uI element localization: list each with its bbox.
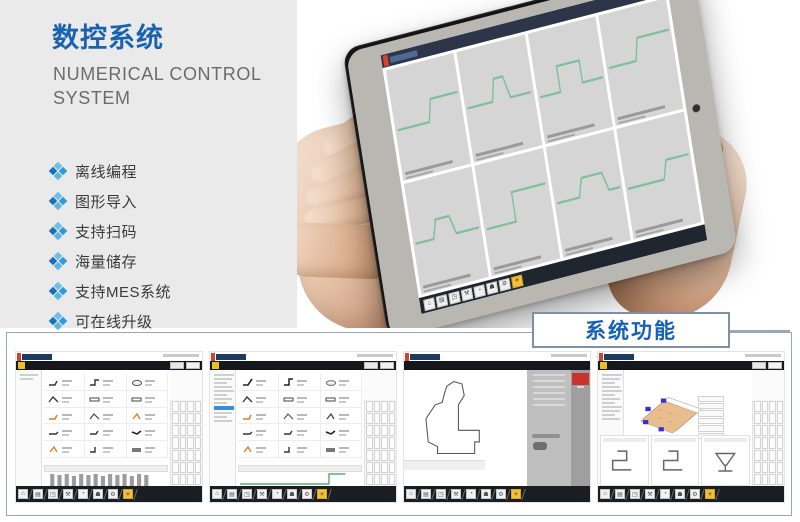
diamond-cluster-icon <box>50 253 66 269</box>
settings-icon[interactable]: ⚙ <box>496 489 506 499</box>
lamp-icon[interactable]: ☀ <box>511 274 523 288</box>
settings-icon[interactable]: ⚙ <box>498 277 510 291</box>
step-preview-row <box>600 435 750 486</box>
window-titlebar <box>598 352 784 361</box>
home-icon[interactable]: ⌂ <box>18 489 28 499</box>
tool-cell[interactable] <box>85 441 126 458</box>
user-icon[interactable]: ☗ <box>287 489 297 499</box>
tool-cell[interactable] <box>321 408 362 425</box>
page-root: 数控系统 NUMERICAL CONTROL SYSTEM 离线编程 图形导入 <box>0 0 800 522</box>
menubar <box>16 361 202 370</box>
tool-cell[interactable] <box>85 391 126 408</box>
tool-icon[interactable]: ⚒ <box>645 489 655 499</box>
bend-card[interactable] <box>386 53 471 181</box>
canvas-statusbar <box>404 460 485 470</box>
status-bar <box>44 465 168 472</box>
menubar <box>598 361 784 370</box>
bottom-toolbar: ⌂ ▤ ◳ ⚒ ◔ ☗ ⚙ ☀ <box>210 486 396 502</box>
tool-cell[interactable] <box>127 441 168 458</box>
tool-cell[interactable] <box>321 424 362 441</box>
tool-cell[interactable] <box>44 408 85 425</box>
tool-cell[interactable] <box>85 408 126 425</box>
bend-tool-grid <box>238 374 362 458</box>
tab-secondary[interactable] <box>170 362 184 369</box>
table-row[interactable] <box>698 418 724 424</box>
action-panel[interactable] <box>571 370 590 486</box>
tool-cell[interactable] <box>85 374 126 391</box>
diamond-cluster-icon <box>50 223 66 239</box>
gauge-icon[interactable]: ◔ <box>466 489 476 499</box>
feature-label: 离线编程 <box>75 161 137 182</box>
feature-list: 离线编程 图形导入 支持扫码 <box>50 158 290 338</box>
tool-cell[interactable] <box>279 391 320 408</box>
tool-cell[interactable] <box>127 391 168 408</box>
page-title-en: NUMERICAL CONTROL SYSTEM <box>53 62 285 111</box>
feature-label: 图形导入 <box>75 191 137 212</box>
tool-cell[interactable] <box>238 391 279 408</box>
window-controls <box>357 354 393 357</box>
tool-cell[interactable] <box>279 408 320 425</box>
screenshot-bend-sequence[interactable]: ⌂ ▤ ◳ ⚒ ◔ ☗ ⚙ ☀ <box>209 351 397 503</box>
tool-cell[interactable] <box>44 441 85 458</box>
tool-cell[interactable] <box>238 424 279 441</box>
feature-item-5: 可在线升级 <box>50 308 290 334</box>
product-photo: ⌂ ▤ ◳ ⚒ ◔ ☗ ⚙ ☀ <box>297 0 800 328</box>
brand-wordmark <box>604 354 634 360</box>
tool-icon[interactable]: ⚒ <box>63 489 73 499</box>
layers-icon[interactable]: ◳ <box>48 489 58 499</box>
tool-cell[interactable] <box>238 441 279 458</box>
tool-cell[interactable] <box>238 374 279 391</box>
feature-item-1: 图形导入 <box>50 188 290 214</box>
section-badge-label: 系统功能 <box>585 315 677 345</box>
settings-icon[interactable]: ⚙ <box>108 489 118 499</box>
tool-icon[interactable]: ⚒ <box>461 287 473 301</box>
table-row[interactable] <box>698 425 724 431</box>
brand-wordmark <box>216 354 246 360</box>
brand-mark-icon <box>383 55 390 67</box>
diamond-cluster-icon <box>50 283 66 299</box>
brand-wordmark <box>22 354 52 360</box>
layers-icon[interactable]: ◳ <box>448 290 460 304</box>
screenshot-3d-simulation[interactable]: ⌂ ▤ ◳ ⚒ ◔ ☗ ⚙ ☀ <box>597 351 785 503</box>
value-slider[interactable] <box>532 434 560 438</box>
numeric-keypad[interactable] <box>364 400 396 486</box>
bottom-toolbar: ⌂ ▤ ◳ ⚒ ◔ ☗ ⚙ ☀ <box>404 486 590 502</box>
bend-card[interactable] <box>545 130 630 258</box>
hero-text-panel: 数控系统 NUMERICAL CONTROL SYSTEM 离线编程 图形导入 <box>0 0 297 328</box>
feature-item-3: 海量储存 <box>50 248 290 274</box>
lamp-icon[interactable]: ☀ <box>705 489 715 499</box>
layers-icon[interactable]: ◳ <box>436 489 446 499</box>
diamond-cluster-icon <box>50 193 66 209</box>
feature-item-2: 支持扫码 <box>50 218 290 244</box>
step-line-chart <box>238 472 362 486</box>
settings-icon[interactable]: ⚙ <box>690 489 700 499</box>
step-preview-card[interactable] <box>600 435 649 486</box>
folder-icon[interactable]: ▤ <box>421 489 431 499</box>
bend-card[interactable] <box>457 35 542 163</box>
window-controls <box>551 354 587 357</box>
tab-primary[interactable] <box>186 362 200 369</box>
user-icon[interactable]: ☗ <box>675 489 685 499</box>
diamond-cluster-icon <box>50 163 66 179</box>
primary-action-button[interactable] <box>572 373 589 385</box>
tab-secondary[interactable] <box>364 362 378 369</box>
bend-card[interactable] <box>616 112 701 240</box>
numeric-keypad[interactable] <box>752 400 784 486</box>
tool-cell[interactable] <box>127 408 168 425</box>
bend-card[interactable] <box>475 148 560 276</box>
status-badge <box>600 362 607 369</box>
brand-mark-icon <box>599 353 603 361</box>
folder-icon[interactable]: ▤ <box>227 489 237 499</box>
user-icon[interactable]: ☗ <box>93 489 103 499</box>
feature-item-4: 支持MES系统 <box>50 278 290 304</box>
screenshot-bend-library[interactable]: ⌂ ▤ ◳ ⚒ ◔ ☗ ⚙ ☀ <box>15 351 203 503</box>
tool-cell[interactable] <box>44 391 85 408</box>
user-icon[interactable]: ☗ <box>481 489 491 499</box>
lamp-icon[interactable]: ☀ <box>511 489 521 499</box>
properties-panel[interactable] <box>527 370 572 486</box>
tool-icon[interactable]: ⚒ <box>257 489 267 499</box>
tool-icon[interactable]: ⚒ <box>451 489 461 499</box>
tool-cell[interactable] <box>127 424 168 441</box>
step-preview-card[interactable] <box>651 435 700 486</box>
tool-cell[interactable] <box>238 408 279 425</box>
menubar <box>404 361 590 370</box>
feature-label: 可在线升级 <box>75 311 153 332</box>
status-bar <box>238 465 362 472</box>
home-icon[interactable]: ⌂ <box>600 489 610 499</box>
slider-handle[interactable] <box>533 442 547 450</box>
menubar <box>210 361 396 370</box>
gauge-icon[interactable]: ◔ <box>272 489 282 499</box>
window-controls <box>745 354 781 357</box>
home-icon[interactable]: ⌂ <box>423 297 435 311</box>
bend-card[interactable] <box>404 166 489 294</box>
cad-drawing-canvas[interactable] <box>404 370 527 486</box>
home-icon[interactable]: ⌂ <box>406 489 416 499</box>
tool-cell[interactable] <box>44 374 85 391</box>
tool-cell[interactable] <box>44 424 85 441</box>
tool-cell[interactable] <box>279 374 320 391</box>
folder-icon[interactable]: ▤ <box>33 489 43 499</box>
window-titlebar <box>16 352 202 361</box>
main-canvas <box>236 370 364 486</box>
user-icon[interactable]: ☗ <box>486 281 498 295</box>
table-row[interactable] <box>698 410 724 416</box>
badge-connector <box>729 330 790 332</box>
section-badge: 系统功能 <box>532 312 730 348</box>
diamond-cluster-icon <box>50 313 66 329</box>
page-title-cn: 数控系统 <box>52 24 164 54</box>
home-icon[interactable]: ⌂ <box>212 489 222 499</box>
feature-label: 支持扫码 <box>75 221 137 242</box>
tool-cell[interactable] <box>127 374 168 391</box>
screenshot-gallery-panel: ⌂ ▤ ◳ ⚒ ◔ ☗ ⚙ ☀ <box>6 332 792 516</box>
bar-chart <box>44 472 168 486</box>
feature-item-0: 离线编程 <box>50 158 290 184</box>
tool-cell[interactable] <box>321 374 362 391</box>
tab-secondary[interactable] <box>752 362 766 369</box>
numeric-keypad[interactable] <box>170 400 202 486</box>
tab-primary[interactable] <box>380 362 394 369</box>
tool-cell[interactable] <box>321 441 362 458</box>
layers-icon[interactable]: ◳ <box>630 489 640 499</box>
main-canvas <box>42 370 170 486</box>
brand-mark-icon <box>211 353 215 361</box>
lamp-icon[interactable]: ☀ <box>317 489 327 499</box>
brand-mark-icon <box>17 353 21 361</box>
gauge-icon[interactable]: ◔ <box>473 284 485 298</box>
screenshot-cad-profile[interactable]: ⌂ ▤ ◳ ⚒ ◔ ☗ ⚙ ☀ <box>403 351 591 503</box>
window-titlebar <box>404 352 590 361</box>
hero-section: 数控系统 NUMERICAL CONTROL SYSTEM 离线编程 图形导入 <box>0 0 800 328</box>
gauge-icon[interactable]: ◔ <box>78 489 88 499</box>
feature-label: 支持MES系统 <box>75 281 171 302</box>
bend-card[interactable] <box>527 16 612 144</box>
tree-sidebar[interactable] <box>16 370 42 486</box>
table-row[interactable] <box>698 403 724 409</box>
step-preview-card[interactable] <box>701 435 750 486</box>
tool-cell[interactable] <box>279 441 320 458</box>
lamp-icon[interactable]: ☀ <box>123 489 133 499</box>
folder-icon[interactable]: ▤ <box>615 489 625 499</box>
bend-card[interactable] <box>598 0 683 126</box>
brand-wordmark <box>410 354 440 360</box>
screenshot-row: ⌂ ▤ ◳ ⚒ ◔ ☗ ⚙ ☀ <box>15 351 785 503</box>
tool-cell[interactable] <box>279 424 320 441</box>
status-badge <box>18 362 25 369</box>
tool-cell[interactable] <box>85 424 126 441</box>
tool-cell[interactable] <box>321 391 362 408</box>
feature-label: 海量储存 <box>75 251 137 272</box>
layers-icon[interactable]: ◳ <box>242 489 252 499</box>
window-controls <box>163 354 199 357</box>
brand-mark-icon <box>405 353 409 361</box>
settings-icon[interactable]: ⚙ <box>302 489 312 499</box>
gauge-icon[interactable]: ◔ <box>660 489 670 499</box>
table-row[interactable] <box>698 396 724 402</box>
bottom-toolbar: ⌂ ▤ ◳ ⚒ ◔ ☗ ⚙ ☀ <box>598 486 784 502</box>
tree-sidebar[interactable] <box>210 370 236 486</box>
window-titlebar <box>210 352 396 361</box>
tab-primary[interactable] <box>768 362 782 369</box>
bottom-toolbar: ⌂ ▤ ◳ ⚒ ◔ ☗ ⚙ ☀ <box>16 486 202 502</box>
bend-tool-grid <box>44 374 168 458</box>
status-badge <box>212 362 219 369</box>
folder-icon[interactable]: ▤ <box>436 294 448 308</box>
